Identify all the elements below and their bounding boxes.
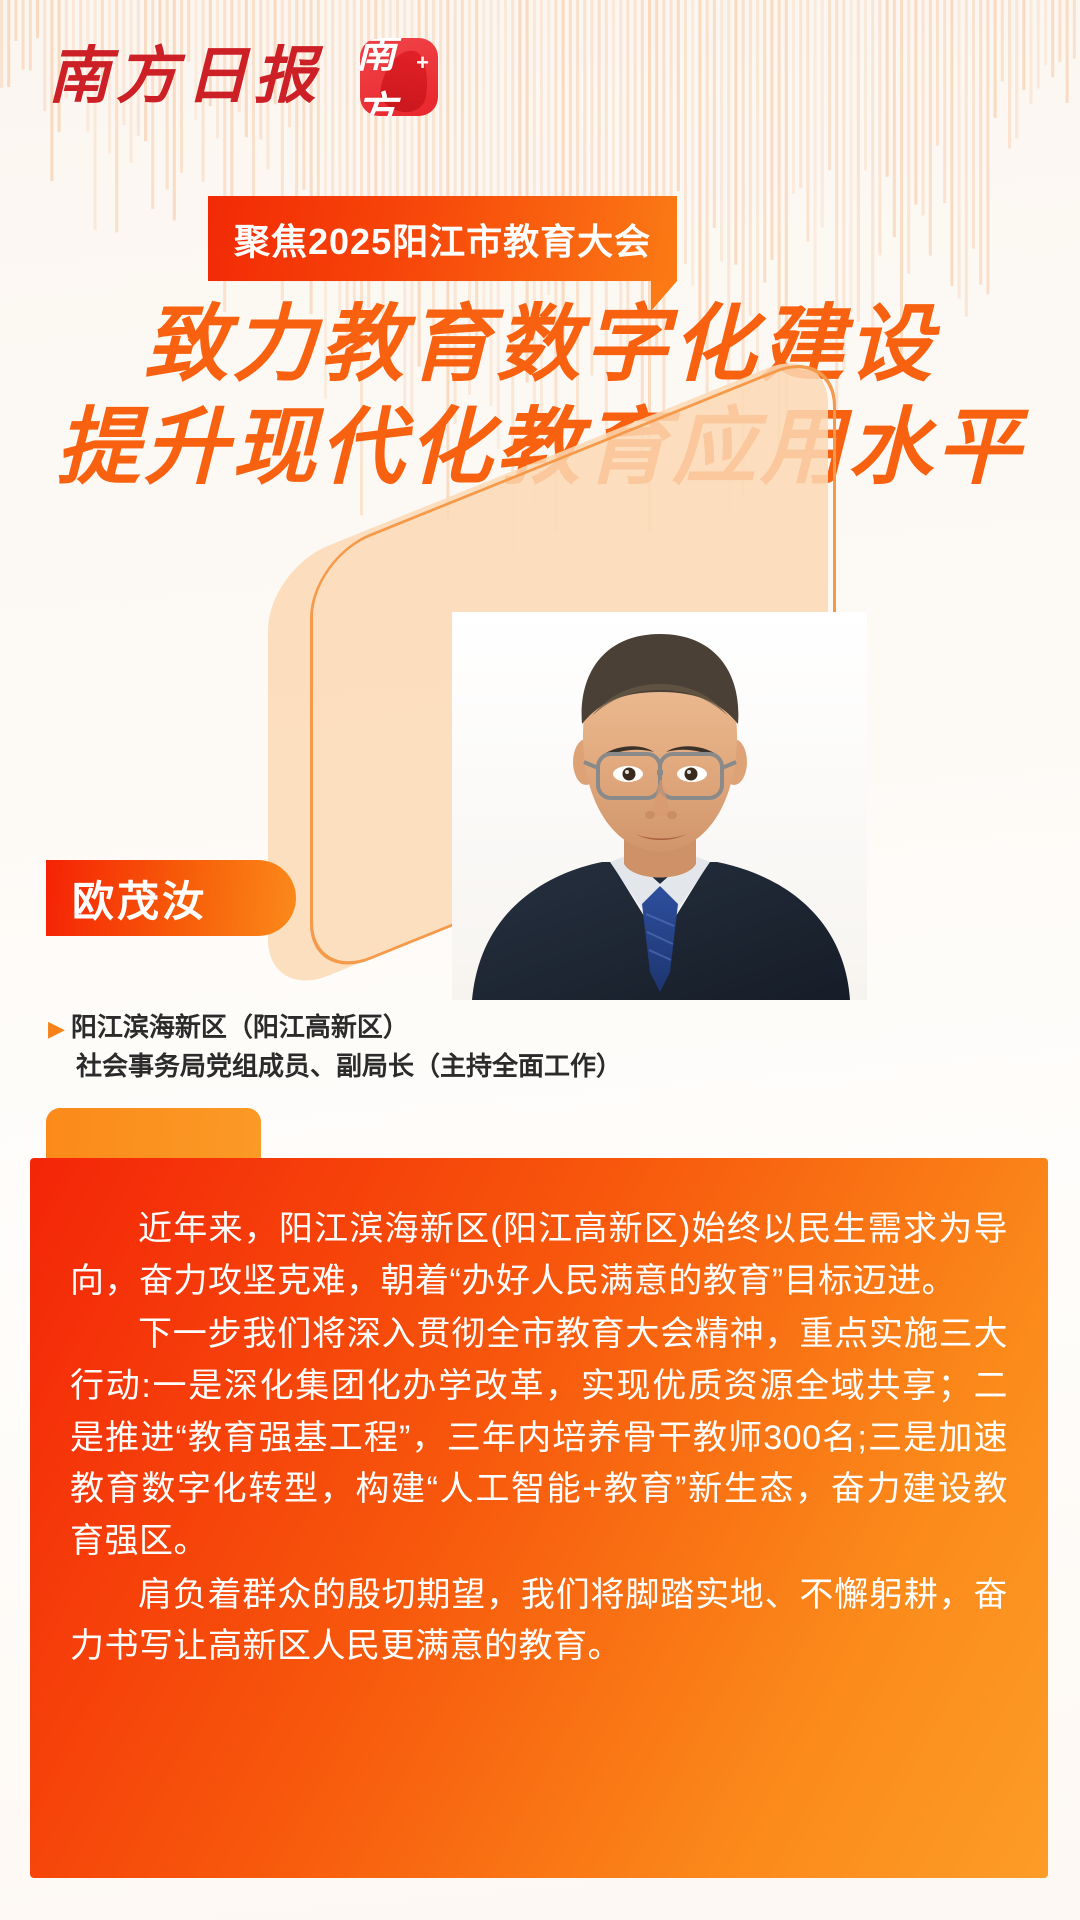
- statement-paragraph: 肩负着群众的殷切期望，我们将脚踏实地、不懈躬耕，奋力书写让高新区人民更满意的教育…: [70, 1570, 1008, 1673]
- topic-ribbon: 聚焦2025阳江市教育大会: [208, 196, 677, 281]
- masthead-logo[interactable]: 南 方 日 报: [46, 39, 346, 115]
- plus-icon: +: [416, 52, 429, 74]
- svg-text:南: 南: [48, 43, 120, 111]
- statement-paragraph: 近年来，阳江滨海新区(阳江高新区)始终以民生需求为导向，奋力攻坚克难，朝着“办好…: [70, 1204, 1008, 1307]
- statement-card: 近年来，阳江滨海新区(阳江高新区)始终以民生需求为导向，奋力攻坚克难，朝着“办好…: [30, 1158, 1048, 1878]
- svg-text:方: 方: [116, 43, 186, 111]
- poster-root: 南 方 日 报 南方 + 聚焦2025阳江市教育大会 致力教育数字化建设 提升现…: [0, 0, 1080, 1920]
- nanfang-plus-app-icon[interactable]: 南方 +: [360, 38, 438, 116]
- headline-line-1: 致力教育数字化建设: [0, 296, 1080, 395]
- person-title-line-1: 阳江滨海新区（阳江高新区）: [71, 1012, 409, 1042]
- topic-ribbon-label: 聚焦2025阳江市教育大会: [234, 221, 651, 262]
- triangle-marker-icon: ▶: [48, 1016, 65, 1041]
- person-title: ▶阳江滨海新区（阳江高新区） 社会事务局党组成员、副局长（主持全面工作）: [48, 1008, 668, 1086]
- svg-text:日: 日: [186, 43, 251, 111]
- portrait-photo: [452, 612, 867, 1000]
- person-name-badge: 欧茂汝: [46, 860, 296, 936]
- statement-paragraph: 下一步我们将深入贯彻全市教育大会精神，重点实施三大行动:一是深化集团化办学改革，…: [70, 1309, 1008, 1567]
- statement-card-tab: [46, 1108, 261, 1164]
- svg-text:报: 报: [254, 43, 324, 111]
- person-name: 欧茂汝: [72, 868, 207, 929]
- person-title-line-2: 社会事务局党组成员、副局长（主持全面工作）: [76, 1047, 668, 1086]
- site-header: 南 方 日 报 南方 +: [46, 38, 438, 116]
- topic-ribbon-wrap: 聚焦2025阳江市教育大会: [208, 196, 677, 281]
